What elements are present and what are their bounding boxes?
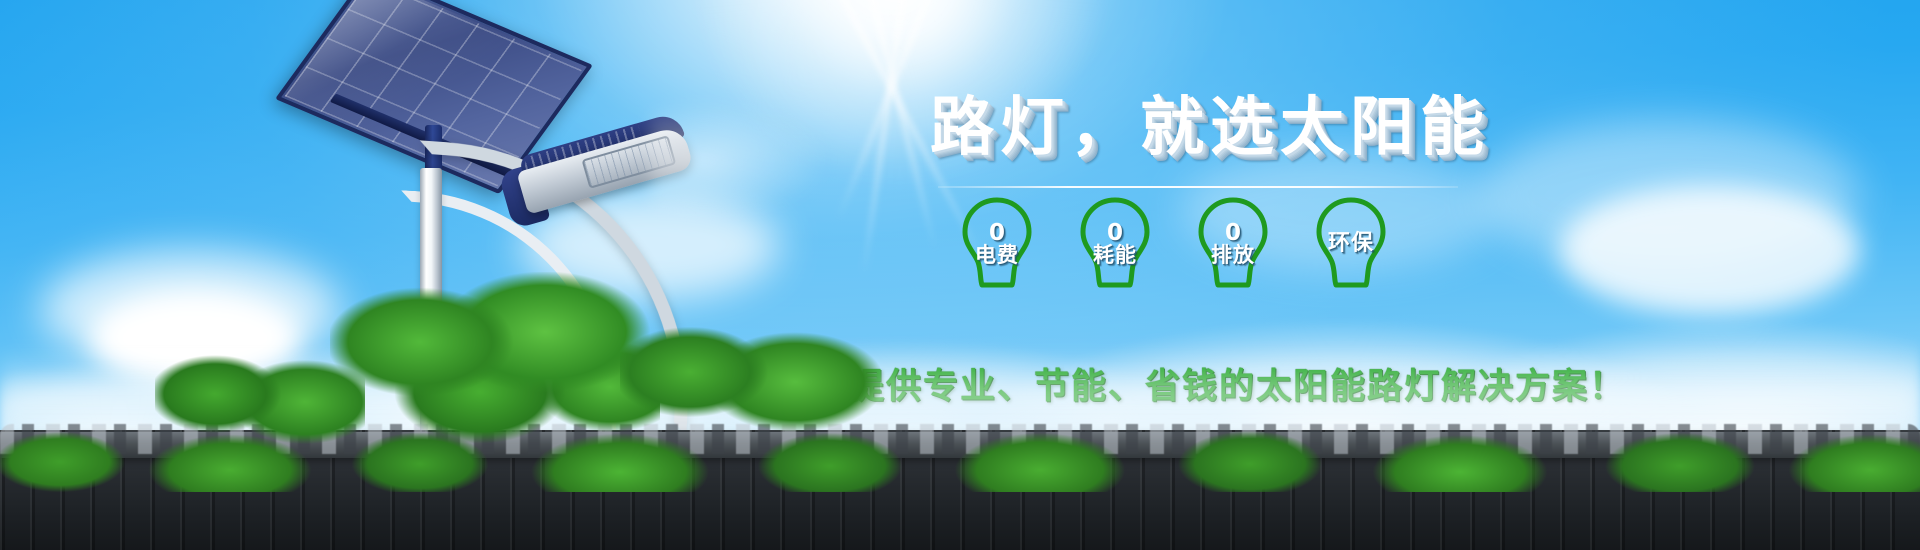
feature-badge-list: 0 电费 0 耗能 0 排放: [960, 196, 1388, 292]
badge-number: 0: [1107, 222, 1123, 245]
feature-badge: 环保: [1314, 196, 1388, 292]
badge-text: 0 排放: [1211, 222, 1255, 266]
page-title: 路灯，就选太阳能: [930, 96, 1490, 160]
vine-row: [0, 372, 1920, 492]
foliage-layer: [0, 292, 1920, 492]
solar-street-light-banner: 路灯，就选太阳能 0 电费 0 耗能: [0, 0, 1920, 550]
badge-text: 环保: [1328, 233, 1374, 255]
badge-number: 0: [1225, 222, 1241, 245]
badge-word: 环保: [1328, 233, 1374, 255]
feature-badge: 0 耗能: [1078, 196, 1152, 292]
badge-word: 电费: [975, 245, 1019, 266]
badge-word: 耗能: [1093, 245, 1137, 266]
badge-number: 0: [989, 222, 1005, 245]
badge-text: 0 电费: [975, 222, 1019, 266]
badge-word: 排放: [1211, 245, 1255, 266]
title-divider: [938, 186, 1458, 188]
feature-badge: 0 排放: [1196, 196, 1270, 292]
lamp-glow: [650, 100, 830, 220]
badge-text: 0 耗能: [1093, 222, 1137, 266]
feature-badge: 0 电费: [960, 196, 1034, 292]
